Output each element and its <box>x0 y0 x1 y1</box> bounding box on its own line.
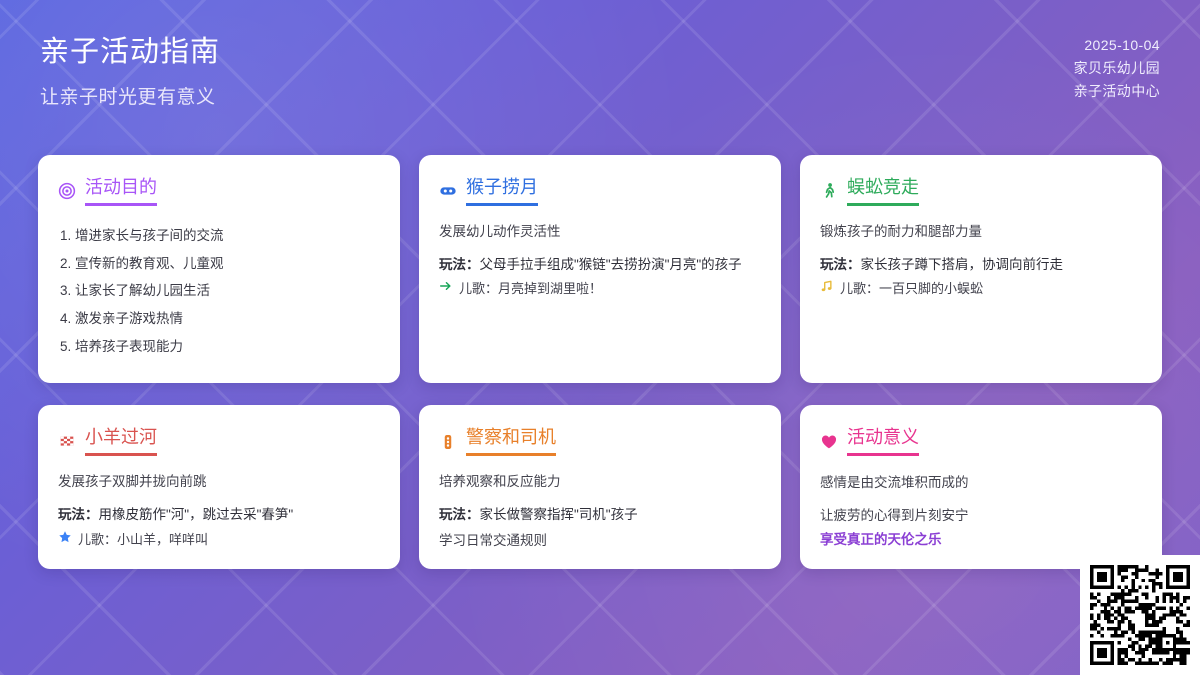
page-header: 亲子活动指南 让亲子时光更有意义 2025-10-04 家贝乐幼儿园 亲子活动中… <box>0 0 1200 140</box>
card-body: 锻炼孩子的耐力和腿部力量 玩法：家长孩子蹲下搭肩，协调向前行走 儿歌：一百只脚的… <box>820 222 1142 301</box>
heart-icon <box>820 433 838 451</box>
howto-text: 用橡皮筋作"河"，跳过去采"春笋" <box>99 507 294 522</box>
page-subtitle: 让亲子时光更有意义 <box>40 82 220 109</box>
card-header: 猴子捞月 <box>439 177 761 206</box>
star-icon <box>58 530 72 544</box>
card-police-and-driver[interactable]: 警察和司机 培养观察和反应能力 玩法：家长做警察指挥"司机"孩子 学习日常交通规… <box>419 405 781 569</box>
qr-code-image <box>1090 565 1190 665</box>
card-centipede-race[interactable]: 蜈蚣竞走 锻炼孩子的耐力和腿部力量 玩法：家长孩子蹲下搭肩，协调向前行走 儿歌：… <box>800 155 1162 383</box>
checkered-flag-icon <box>58 433 76 451</box>
header-meta: 2025-10-04 家贝乐幼儿园 亲子活动中心 <box>1074 34 1160 103</box>
running-person-icon <box>820 182 838 200</box>
list-item: 激发亲子游戏热情 <box>58 309 380 330</box>
card-howto: 玩法：用橡皮筋作"河"，跳过去采"春笋" <box>58 504 380 526</box>
card-extra: 学习日常交通规则 <box>439 530 761 552</box>
song-text: 儿歌：一百只脚的小蜈蚣 <box>840 279 983 300</box>
card-title: 猴子捞月 <box>466 177 538 206</box>
howto-text: 父母手拉手组成"猴链"去捞扮演"月亮"的孩子 <box>480 257 742 272</box>
card-howto: 玩法：父母手拉手组成"猴链"去捞扮演"月亮"的孩子 <box>439 254 761 276</box>
list-item: 培养孩子表现能力 <box>58 337 380 358</box>
music-note-icon <box>820 279 834 293</box>
card-description: 发展幼儿动作灵活性 <box>439 222 761 242</box>
purpose-list: 增进家长与孩子间的交流 宣传新的教育观、儿童观 让家长了解幼儿园生活 激发亲子游… <box>58 226 380 359</box>
meaning-line-2: 让疲劳的心得到片刻安宁 <box>820 505 1142 527</box>
song-text: 儿歌：小山羊，咩咩叫 <box>78 530 208 551</box>
card-header: 小羊过河 <box>58 427 380 456</box>
card-title: 小羊过河 <box>85 427 157 456</box>
list-item: 增进家长与孩子间的交流 <box>58 226 380 247</box>
card-header: 蜈蚣竞走 <box>820 177 1142 206</box>
card-lamb-crossing-river[interactable]: 小羊过河 发展孩子双脚并拢向前跳 玩法：用橡皮筋作"河"，跳过去采"春笋" 儿歌… <box>38 405 400 569</box>
card-header: 活动目的 <box>58 177 380 206</box>
card-grid: 活动目的 增进家长与孩子间的交流 宣传新的教育观、儿童观 让家长了解幼儿园生活 … <box>38 155 1162 569</box>
card-title: 蜈蚣竞走 <box>847 177 919 206</box>
card-body: 发展孩子双脚并拢向前跳 玩法：用橡皮筋作"河"，跳过去采"春笋" 儿歌：小山羊，… <box>58 472 380 551</box>
howto-label: 玩法： <box>58 507 99 522</box>
card-activity-purpose[interactable]: 活动目的 增进家长与孩子间的交流 宣传新的教育观、儿童观 让家长了解幼儿园生活 … <box>38 155 400 383</box>
target-icon <box>58 182 76 200</box>
howto-text: 家长做警察指挥"司机"孩子 <box>480 507 638 522</box>
card-title: 警察和司机 <box>466 427 556 456</box>
page-title: 亲子活动指南 <box>40 34 220 70</box>
card-howto: 玩法：家长做警察指挥"司机"孩子 <box>439 504 761 526</box>
card-description: 发展孩子双脚并拢向前跳 <box>58 472 380 492</box>
list-item: 让家长了解幼儿园生活 <box>58 281 380 302</box>
meaning-accent: 享受真正的天伦之乐 <box>820 529 1142 551</box>
card-howto: 玩法：家长孩子蹲下搭肩，协调向前行走 <box>820 254 1142 276</box>
gamepad-icon <box>439 182 457 200</box>
qr-code[interactable] <box>1080 555 1200 675</box>
header-department: 亲子活动中心 <box>1074 80 1160 103</box>
header-date: 2025-10-04 <box>1084 34 1160 57</box>
card-header: 活动意义 <box>820 427 1142 456</box>
card-body: 增进家长与孩子间的交流 宣传新的教育观、儿童观 让家长了解幼儿园生活 激发亲子游… <box>58 222 380 366</box>
howto-label: 玩法： <box>439 257 480 272</box>
card-song: 儿歌：小山羊，咩咩叫 <box>58 530 380 551</box>
howto-label: 玩法： <box>439 507 480 522</box>
card-body: 培养观察和反应能力 玩法：家长做警察指挥"司机"孩子 学习日常交通规则 <box>439 472 761 551</box>
header-left: 亲子活动指南 让亲子时光更有意义 <box>40 34 220 109</box>
traffic-light-icon <box>439 433 457 451</box>
card-monkey-scoop-moon[interactable]: 猴子捞月 发展幼儿动作灵活性 玩法：父母手拉手组成"猴链"去捞扮演"月亮"的孩子… <box>419 155 781 383</box>
card-title: 活动意义 <box>847 427 919 456</box>
song-text: 儿歌：月亮掉到湖里啦！ <box>459 279 602 300</box>
header-organization: 家贝乐幼儿园 <box>1074 57 1160 80</box>
card-song: 儿歌：一百只脚的小蜈蚣 <box>820 279 1142 300</box>
arrow-right-icon <box>439 279 453 293</box>
card-body: 感情是由交流堆积而成的 让疲劳的心得到片刻安宁 享受真正的天伦之乐 <box>820 472 1142 551</box>
card-body: 发展幼儿动作灵活性 玩法：父母手拉手组成"猴链"去捞扮演"月亮"的孩子 儿歌：月… <box>439 222 761 301</box>
card-title: 活动目的 <box>85 177 157 206</box>
howto-label: 玩法： <box>820 257 861 272</box>
card-header: 警察和司机 <box>439 427 761 456</box>
list-item: 宣传新的教育观、儿童观 <box>58 254 380 275</box>
card-activity-meaning[interactable]: 活动意义 感情是由交流堆积而成的 让疲劳的心得到片刻安宁 享受真正的天伦之乐 <box>800 405 1162 569</box>
howto-text: 家长孩子蹲下搭肩，协调向前行走 <box>861 257 1064 272</box>
card-song: 儿歌：月亮掉到湖里啦！ <box>439 279 761 300</box>
card-description: 培养观察和反应能力 <box>439 472 761 492</box>
poster-root: 亲子活动指南 让亲子时光更有意义 2025-10-04 家贝乐幼儿园 亲子活动中… <box>0 0 1200 675</box>
card-description: 锻炼孩子的耐力和腿部力量 <box>820 222 1142 242</box>
meaning-line-1: 感情是由交流堆积而成的 <box>820 472 1142 494</box>
